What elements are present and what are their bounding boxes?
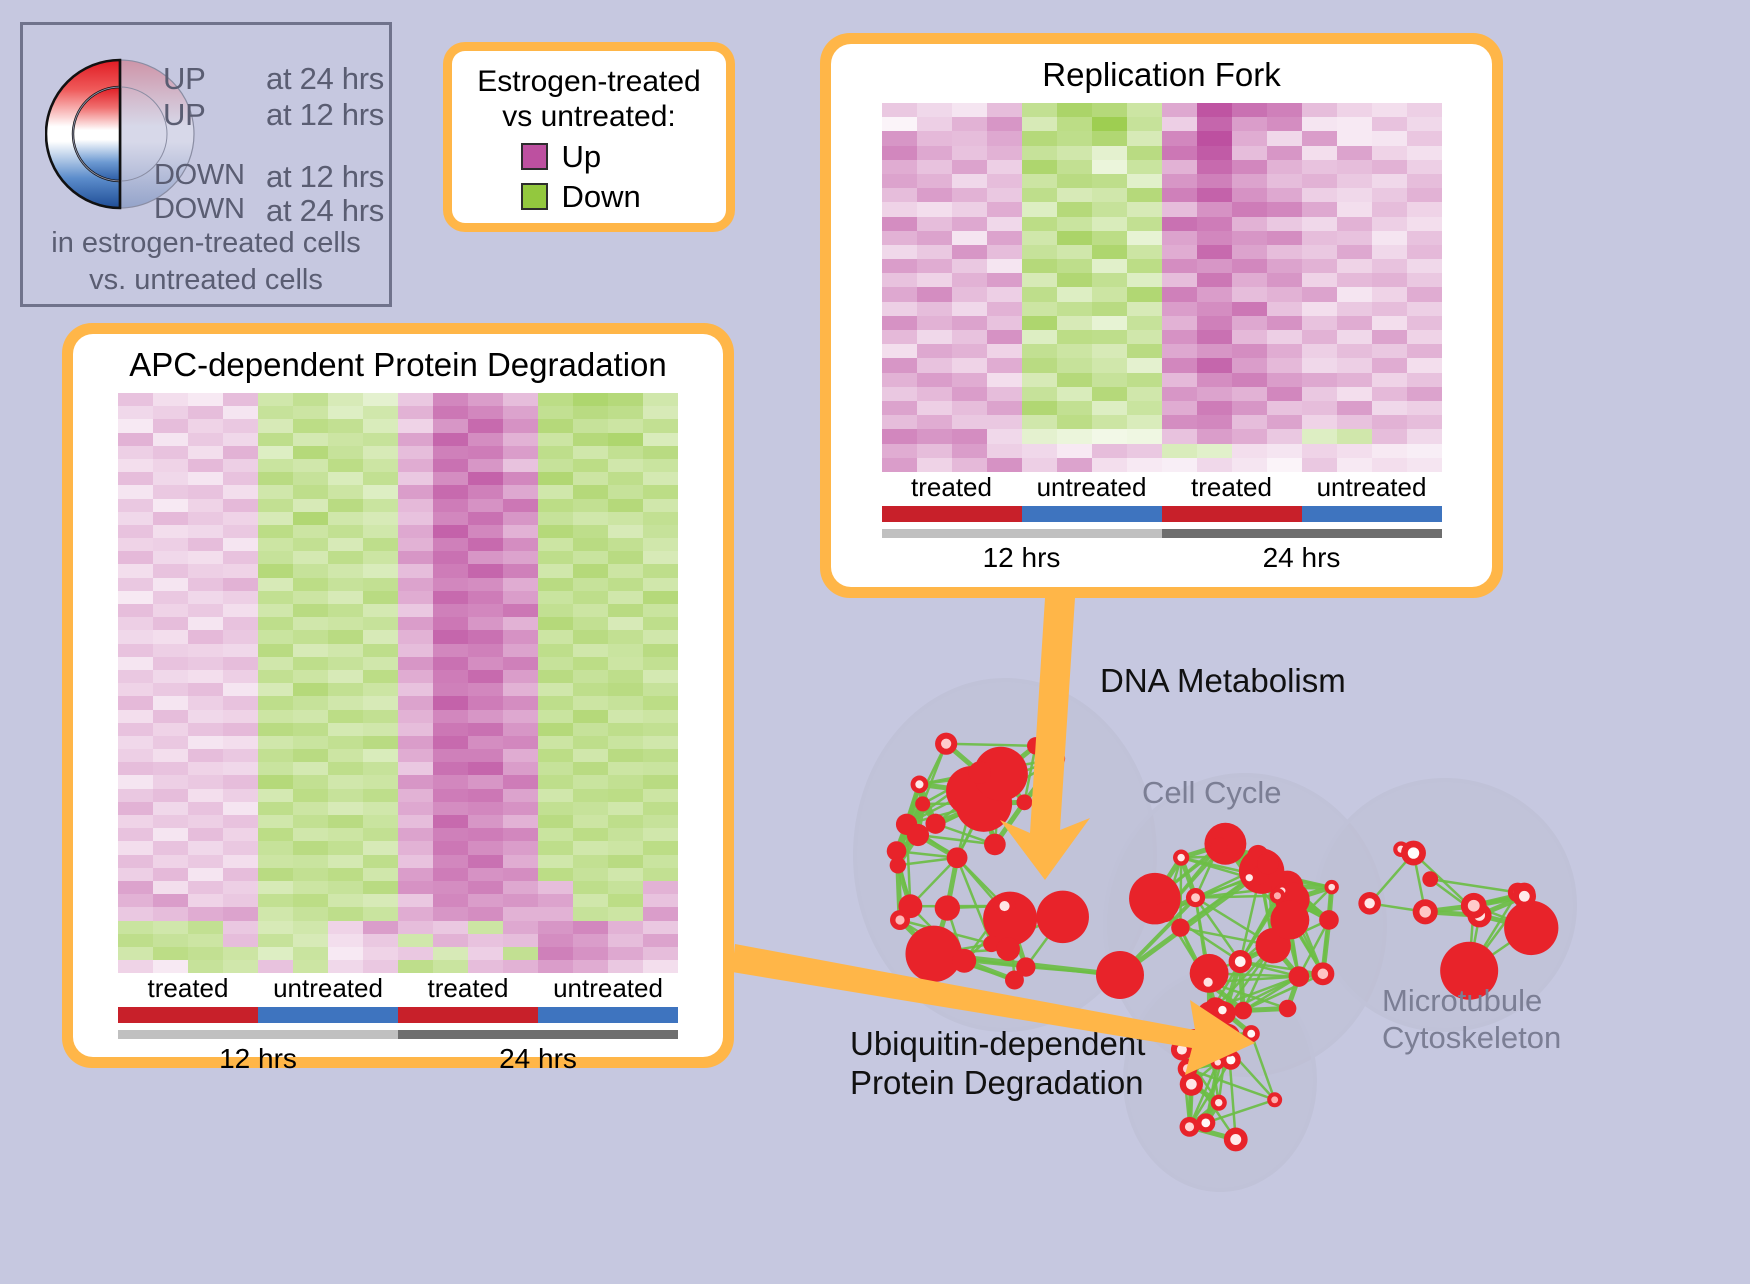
heatmap-cell	[223, 459, 258, 472]
heatmap-cell	[573, 841, 608, 854]
heatmap-cell	[503, 762, 538, 775]
heatmap-cell	[118, 907, 153, 920]
heatmap-cell	[917, 344, 952, 358]
heatmap-cell	[1162, 188, 1197, 202]
heatmap-cell	[643, 815, 678, 828]
network-node[interactable]	[1234, 1002, 1252, 1020]
heatmap-cell	[608, 604, 643, 617]
heatmap-cell	[952, 373, 987, 387]
timepoint-bar-0	[118, 1030, 398, 1039]
network-node[interactable]	[890, 857, 906, 873]
heatmap-cell	[188, 894, 223, 907]
heatmap-cell	[573, 604, 608, 617]
network-node[interactable]	[1279, 1000, 1297, 1018]
heatmap-cell	[153, 802, 188, 815]
heatmap-cell	[608, 907, 643, 920]
heatmap-cell	[258, 802, 293, 815]
heatmap-cell	[363, 604, 398, 617]
heatmap-cell	[643, 578, 678, 591]
heatmap-cell	[363, 644, 398, 657]
network-node[interactable]	[1016, 957, 1035, 976]
condition-label-0: treated	[118, 973, 258, 1004]
timepoint-labels: 12 hrs24 hrs	[118, 1043, 678, 1075]
heatmap-cell	[538, 683, 573, 696]
heatmap-cell	[952, 429, 987, 443]
heatmap-cell	[223, 696, 258, 709]
heatmap-cell	[363, 485, 398, 498]
heatmap-cell	[363, 578, 398, 591]
network-node[interactable]	[907, 824, 929, 846]
heatmap-cell	[952, 202, 987, 216]
heatmap-cell	[118, 815, 153, 828]
heatmap-cell	[433, 446, 468, 459]
heatmap-cell	[363, 696, 398, 709]
network-node-core	[1468, 900, 1480, 912]
heatmap-cell	[188, 393, 223, 406]
network-node[interactable]	[1270, 901, 1309, 940]
heatmap-cell	[987, 160, 1022, 174]
heatmap-cell	[1407, 358, 1442, 372]
network-node[interactable]	[1504, 901, 1558, 955]
heatmap-cell	[538, 406, 573, 419]
network-node[interactable]	[1027, 737, 1044, 754]
heatmap-cell	[1162, 117, 1197, 131]
heatmap-cell	[468, 828, 503, 841]
heatmap-cell	[328, 947, 363, 960]
heatmap-cell	[538, 736, 573, 749]
heatmap-cell	[363, 538, 398, 551]
heatmap-cell	[1302, 401, 1337, 415]
heatmap-cell	[1267, 273, 1302, 287]
heatmap-cell	[1267, 131, 1302, 145]
heatmap-cell	[917, 415, 952, 429]
heatmap-cell	[1057, 160, 1092, 174]
network-node[interactable]	[952, 949, 976, 973]
network-node[interactable]	[925, 814, 945, 834]
heatmap-cell	[1197, 429, 1232, 443]
heatmap-cell	[608, 960, 643, 973]
heatmap-cell	[258, 578, 293, 591]
heatmap-cell	[1337, 131, 1372, 145]
heatmap-cell	[643, 723, 678, 736]
heatmap-cell	[1407, 217, 1442, 231]
heatmap-cell	[118, 551, 153, 564]
heatmap-cell	[1407, 131, 1442, 145]
heatmap-cell	[258, 485, 293, 498]
heatmap-cell	[1337, 458, 1372, 472]
heatmap-cell	[118, 459, 153, 472]
network-node-core	[1519, 891, 1530, 902]
heatmap-cell	[293, 617, 328, 630]
heatmap-cell	[1372, 202, 1407, 216]
heatmap-cell	[538, 485, 573, 498]
network-node[interactable]	[1096, 951, 1144, 999]
heatmap-cell	[153, 934, 188, 947]
heatmap-cell	[573, 459, 608, 472]
heatmap-cell	[1197, 316, 1232, 330]
heatmap-cell	[223, 604, 258, 617]
network-node[interactable]	[915, 796, 930, 811]
heatmap-cell	[643, 446, 678, 459]
heatmap-cell	[188, 644, 223, 657]
heatmap-cell	[153, 525, 188, 538]
heatmap-cell	[917, 131, 952, 145]
heatmap-cell	[433, 696, 468, 709]
heatmap-cell	[258, 591, 293, 604]
heatmap-cell	[1197, 302, 1232, 316]
heatmap-cell	[538, 433, 573, 446]
heatmap-cell	[153, 657, 188, 670]
network-node[interactable]	[1155, 902, 1175, 922]
heatmap-cell	[538, 868, 573, 881]
heatmap-cell	[987, 103, 1022, 117]
heatmap-cell	[433, 841, 468, 854]
heatmap-cell	[223, 406, 258, 419]
heatmap-cell	[1302, 387, 1337, 401]
heatmap-cell	[1267, 302, 1302, 316]
heatmap-cell	[468, 578, 503, 591]
heatmap-cell	[468, 419, 503, 432]
heatmap-cell	[1337, 344, 1372, 358]
heatmap-cell	[917, 217, 952, 231]
network-node-core	[1201, 1118, 1210, 1127]
heatmap-cell	[1267, 202, 1302, 216]
estrogen-title-line1: Estrogen-treated	[462, 65, 716, 100]
heatmap-cell	[643, 459, 678, 472]
heatmap-cell	[293, 419, 328, 432]
heatmap-cell	[188, 868, 223, 881]
heatmap-cell	[608, 789, 643, 802]
heatmap-cell	[503, 696, 538, 709]
heatmap-cell	[398, 591, 433, 604]
heatmap-cell	[398, 459, 433, 472]
heatmap-cell	[1372, 131, 1407, 145]
heatmap-cell	[363, 499, 398, 512]
heatmap-cell	[573, 617, 608, 630]
heatmap-cell	[1197, 245, 1232, 259]
heatmap-cell	[1372, 387, 1407, 401]
heatmap-cell	[398, 393, 433, 406]
heatmap-cell	[468, 736, 503, 749]
heatmap-cell	[987, 401, 1022, 415]
heatmap-cell	[433, 525, 468, 538]
heatmap-cell	[468, 921, 503, 934]
heatmap-cell	[1092, 415, 1127, 429]
heatmap-cell	[363, 736, 398, 749]
heatmap-cell	[917, 358, 952, 372]
heatmap-cell	[223, 446, 258, 459]
heatmap-cell	[643, 499, 678, 512]
heatmap-cell	[258, 710, 293, 723]
heatmap-cell	[952, 160, 987, 174]
heatmap-cell	[1092, 358, 1127, 372]
heatmap-cell	[1022, 458, 1057, 472]
heatmap-cell	[1057, 174, 1092, 188]
heatmap-cell	[917, 316, 952, 330]
heatmap-cell	[608, 762, 643, 775]
heatmap-cell	[153, 644, 188, 657]
network-node[interactable]	[984, 834, 1006, 856]
heatmap-cell	[398, 828, 433, 841]
heatmap-cell	[952, 131, 987, 145]
heatmap-cell	[328, 393, 363, 406]
heatmap-apc-degradation	[118, 393, 678, 973]
heatmap-cell	[643, 657, 678, 670]
network-node[interactable]	[1016, 794, 1032, 810]
heatmap-cell	[987, 316, 1022, 330]
heatmap-cell	[1407, 245, 1442, 259]
heatmap-cell	[1127, 217, 1162, 231]
heatmap-cell	[643, 868, 678, 881]
heatmap-cell	[882, 287, 917, 301]
heatmap-cell	[573, 419, 608, 432]
heatmap-cell	[608, 472, 643, 485]
heatmap-cell	[328, 960, 363, 973]
heatmap-cell	[503, 485, 538, 498]
heatmap-cell	[363, 934, 398, 947]
heatmap-cell	[1022, 131, 1057, 145]
heatmap-cell	[1092, 458, 1127, 472]
heatmap-cell	[1372, 217, 1407, 231]
heatmap-cell	[118, 894, 153, 907]
heatmap-cell	[503, 512, 538, 525]
heatmap-cell	[1057, 273, 1092, 287]
heatmap-cell	[118, 578, 153, 591]
heatmap-cell	[433, 736, 468, 749]
network-node-core	[1177, 854, 1184, 861]
panel-replication-fork: Replication Fork treateduntreatedtreated…	[820, 33, 1503, 598]
legend-item-down: Down	[462, 179, 716, 215]
heatmap-cell	[223, 736, 258, 749]
heatmap-cell	[608, 538, 643, 551]
heatmap-cell	[987, 287, 1022, 301]
heatmap-cell	[328, 696, 363, 709]
heatmap-cell	[468, 802, 503, 815]
heatmap-cell	[503, 907, 538, 920]
heatmap-cell	[188, 802, 223, 815]
network-node-core	[1271, 1096, 1278, 1103]
heatmap-cell	[608, 551, 643, 564]
heatmap-cell	[952, 316, 987, 330]
heatmap-cell	[1302, 444, 1337, 458]
network-node[interactable]	[1422, 871, 1438, 887]
heatmap-cell	[573, 670, 608, 683]
heatmap-cell	[1162, 444, 1197, 458]
heatmap-cell	[917, 146, 952, 160]
heatmap-cell	[293, 762, 328, 775]
heatmap-cell	[258, 696, 293, 709]
heatmap-cell	[363, 446, 398, 459]
network-node[interactable]	[905, 926, 961, 982]
heatmap-cell	[258, 630, 293, 643]
network-node[interactable]	[1211, 838, 1227, 854]
heatmap-cell	[468, 499, 503, 512]
heatmap-cell	[223, 789, 258, 802]
network-node[interactable]	[1289, 966, 1310, 987]
heatmap-cell	[538, 499, 573, 512]
heatmap-cell	[363, 657, 398, 670]
heatmap-cell	[433, 907, 468, 920]
heatmap-cell	[1127, 415, 1162, 429]
heatmap-cell	[882, 444, 917, 458]
heatmap-cell	[1407, 330, 1442, 344]
heatmap-cell	[1092, 344, 1127, 358]
heatmap-cell	[1337, 316, 1372, 330]
heatmap-cell	[573, 499, 608, 512]
heatmap-cell	[468, 868, 503, 881]
heatmap-cell	[1372, 287, 1407, 301]
heatmap-cell	[468, 630, 503, 643]
heatmap-cell	[468, 696, 503, 709]
heatmap-cell	[188, 564, 223, 577]
heatmap-cell	[433, 723, 468, 736]
heatmap-cell	[1127, 401, 1162, 415]
heatmap-cell	[917, 202, 952, 216]
heatmap-cell	[258, 749, 293, 762]
network-node[interactable]	[1036, 891, 1088, 943]
network-node[interactable]	[935, 895, 960, 920]
heatmap-cell	[643, 419, 678, 432]
heatmap-cell	[1057, 429, 1092, 443]
network-node-core	[1185, 1122, 1194, 1131]
heatmap-cell	[1267, 458, 1302, 472]
heatmap-cell	[538, 538, 573, 551]
heatmap-cell	[363, 841, 398, 854]
heatmap-cell	[1302, 287, 1337, 301]
network-node-core	[1190, 1033, 1197, 1040]
heatmap-cell	[328, 446, 363, 459]
heatmap-cell	[643, 604, 678, 617]
heatmap-cell	[1337, 273, 1372, 287]
heatmap-cell	[398, 551, 433, 564]
network-node[interactable]	[1319, 910, 1339, 930]
heatmap-cell	[433, 459, 468, 472]
heatmap-cell	[258, 907, 293, 920]
heatmap-cell	[952, 387, 987, 401]
heatmap-cell	[1232, 316, 1267, 330]
heatmap-cell	[1232, 302, 1267, 316]
heatmap-cell	[1197, 273, 1232, 287]
heatmap-cell	[643, 433, 678, 446]
heatmap-cell	[188, 551, 223, 564]
heatmap-cell	[398, 868, 433, 881]
heatmap-cell	[1267, 330, 1302, 344]
heatmap-cell	[118, 472, 153, 485]
heatmap-cell	[258, 472, 293, 485]
heatmap-cell	[468, 723, 503, 736]
heatmap-cell	[538, 644, 573, 657]
heatmap-cell	[1127, 330, 1162, 344]
heatmap-cell	[952, 444, 987, 458]
heatmap-cell	[882, 316, 917, 330]
network-node-core	[1202, 1016, 1211, 1025]
heatmap-cell	[1092, 217, 1127, 231]
heatmap-cell	[223, 670, 258, 683]
heatmap-cell	[153, 551, 188, 564]
heatmap-cell	[223, 815, 258, 828]
estrogen-legend-card: Estrogen-treated vs untreated: Up Down	[443, 42, 735, 232]
heatmap-cell	[293, 815, 328, 828]
heatmap-cell	[223, 683, 258, 696]
heatmap-cell	[1057, 131, 1092, 145]
heatmap-cell	[328, 617, 363, 630]
heatmap-cell	[1232, 330, 1267, 344]
heatmap-cell	[293, 907, 328, 920]
heatmap-cell	[258, 604, 293, 617]
heatmap-cell	[882, 231, 917, 245]
heatmap-cell	[573, 630, 608, 643]
heatmap-cell	[573, 683, 608, 696]
heatmap-cell	[1162, 401, 1197, 415]
heatmap-cell	[293, 485, 328, 498]
legend-row-0-direction: UP	[163, 61, 205, 97]
heatmap-cell	[1267, 103, 1302, 117]
heatmap-cell	[1092, 401, 1127, 415]
heatmap-cell	[1092, 444, 1127, 458]
heatmap-cell	[573, 894, 608, 907]
heatmap-cell	[433, 617, 468, 630]
heatmap-cell	[363, 775, 398, 788]
heatmap-cell	[1022, 316, 1057, 330]
network-node[interactable]	[947, 847, 968, 868]
heatmap-cell	[398, 881, 433, 894]
heatmap-cell	[1162, 458, 1197, 472]
heatmap-cell	[1022, 146, 1057, 160]
heatmap-cell	[1372, 245, 1407, 259]
heatmap-cell	[1197, 231, 1232, 245]
heatmap-cell	[1407, 401, 1442, 415]
heatmap-cell	[1302, 344, 1337, 358]
heatmap-cell	[223, 775, 258, 788]
heatmap-cell	[1092, 117, 1127, 131]
heatmap-cell	[328, 815, 363, 828]
heatmap-cell	[363, 564, 398, 577]
network-node[interactable]	[1050, 751, 1065, 766]
heatmap-cell	[608, 894, 643, 907]
heatmap-cell	[573, 868, 608, 881]
condition-labels: treateduntreatedtreateduntreated	[118, 973, 678, 1004]
heatmap-cell	[1127, 287, 1162, 301]
axis-apc-degradation: treateduntreatedtreateduntreated12 hrs24…	[118, 973, 678, 1075]
heatmap-cell	[1057, 217, 1092, 231]
heatmap-cell	[258, 512, 293, 525]
heatmap-cell	[538, 551, 573, 564]
heatmap-cell	[153, 617, 188, 630]
timepoint-colour-bar	[882, 529, 1442, 538]
heatmap-cell	[188, 855, 223, 868]
network-node[interactable]	[996, 937, 1020, 961]
heatmap-cell	[118, 775, 153, 788]
heatmap-cell	[608, 459, 643, 472]
heatmap-cell	[1407, 231, 1442, 245]
heatmap-cell	[1337, 160, 1372, 174]
heatmap-cell	[643, 960, 678, 973]
heatmap-cell	[538, 802, 573, 815]
heatmap-cell	[1197, 117, 1232, 131]
heatmap-cell	[293, 841, 328, 854]
heatmap-cell	[433, 894, 468, 907]
heatmap-cell	[433, 578, 468, 591]
network-node[interactable]	[969, 761, 991, 783]
network-node[interactable]	[1171, 918, 1189, 936]
heatmap-cell	[1127, 146, 1162, 160]
heatmap-cell	[258, 947, 293, 960]
network-node[interactable]	[1257, 853, 1279, 875]
heatmap-cell	[882, 117, 917, 131]
heatmap-cell	[188, 657, 223, 670]
heatmap-cell	[987, 415, 1022, 429]
heatmap-cell	[573, 736, 608, 749]
